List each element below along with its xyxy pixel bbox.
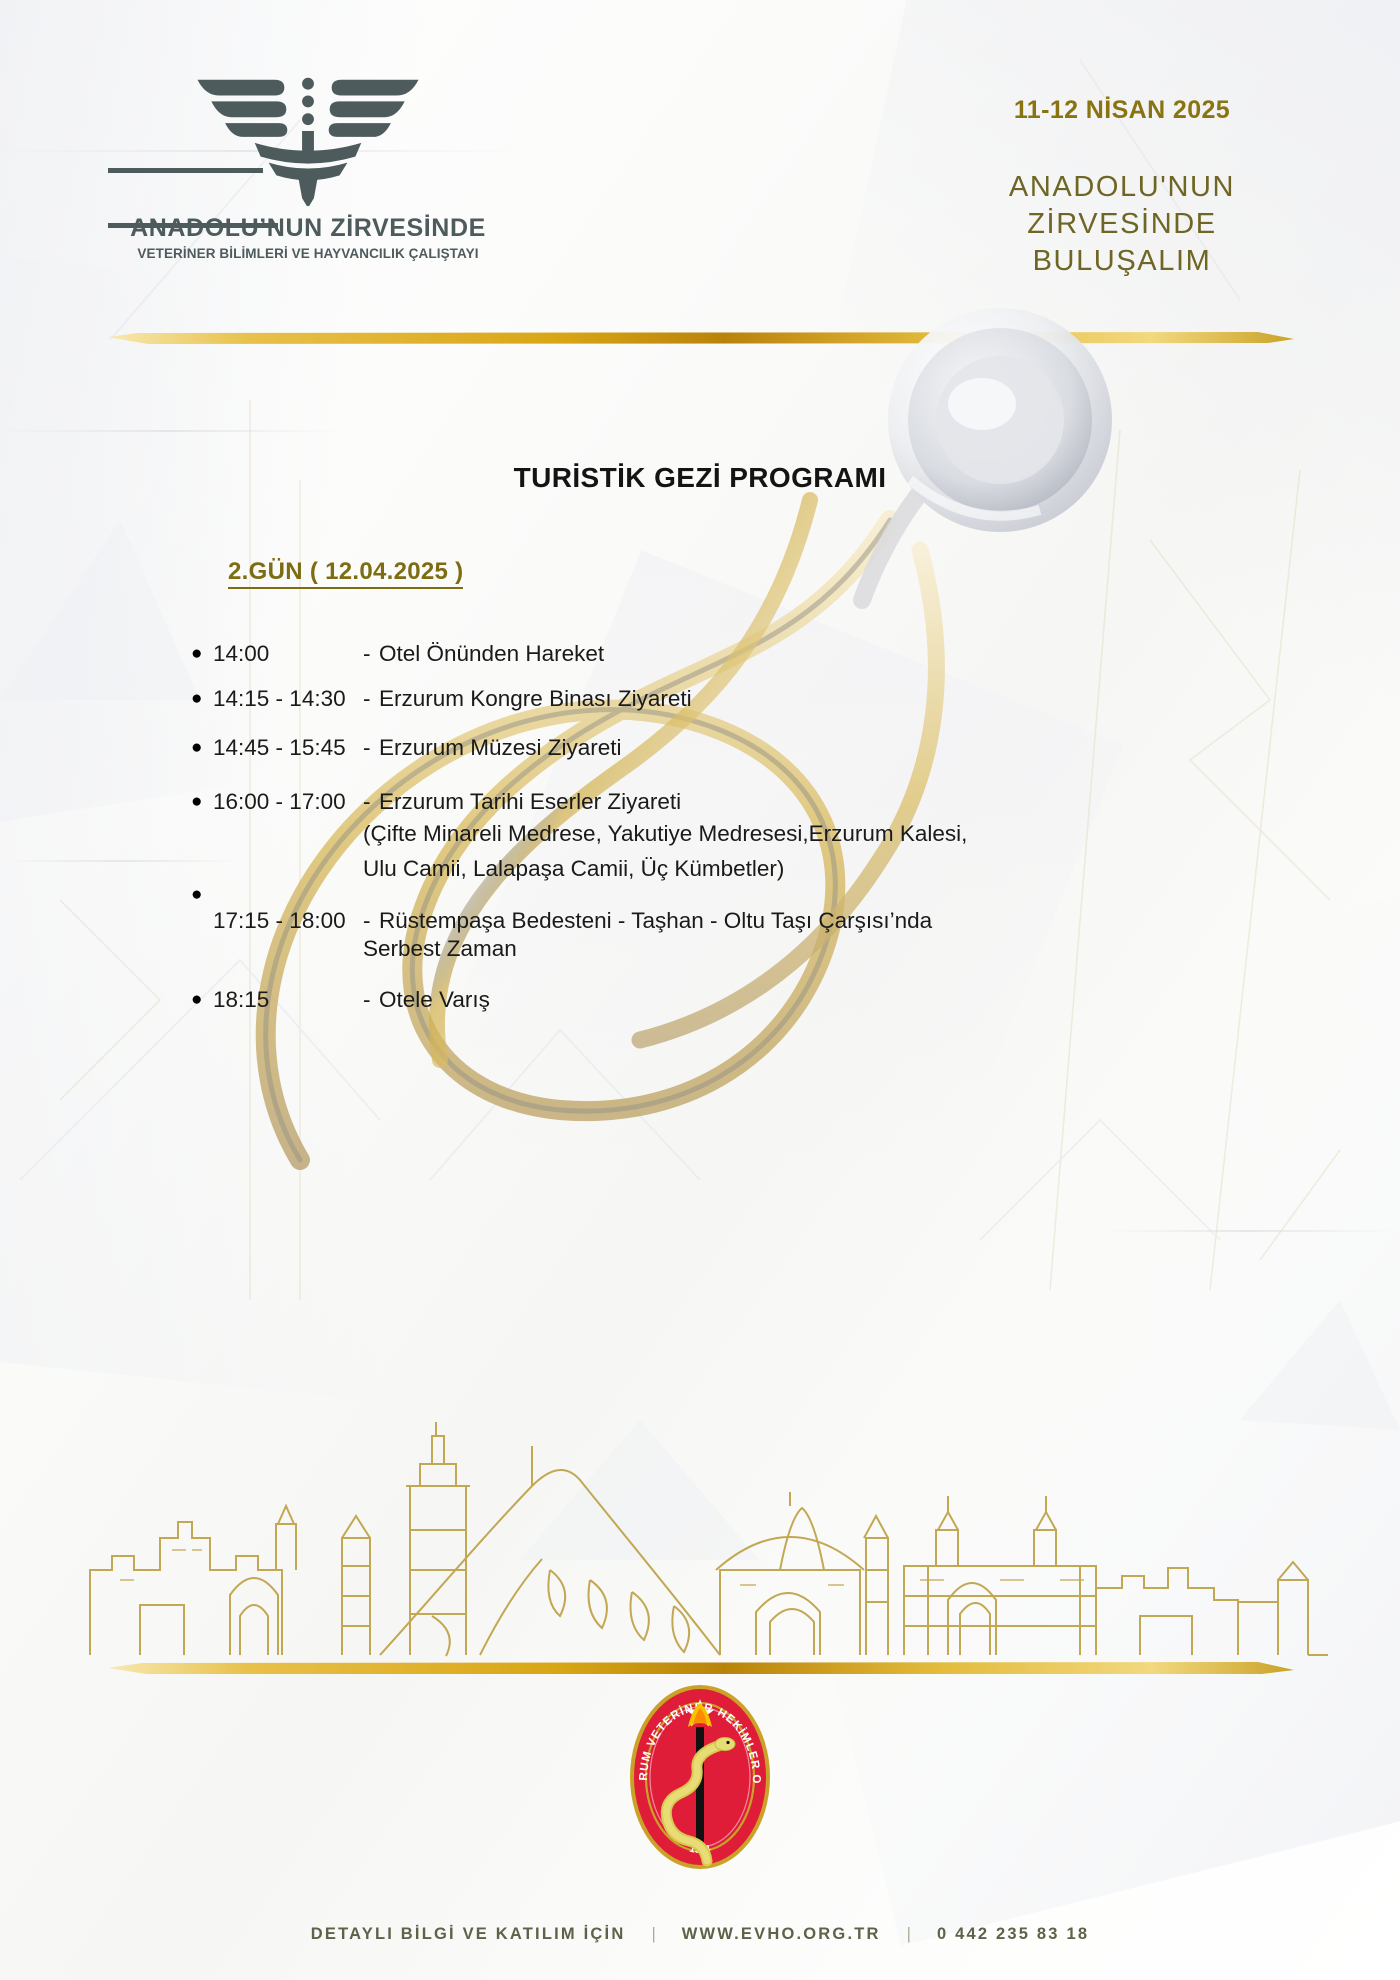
schedule-subtext: Ulu Camii, Lalapaşa Camii, Üç Kümbetler) [185, 852, 1185, 887]
footer-bar: DETAYLI BİLGİ VE KATILIM İÇİN | WWW.EVHO… [0, 1925, 1400, 1944]
poster-page: ANADOLU’NUN ZİRVESİNDE VETERİNER BİLİMLE… [0, 0, 1400, 1980]
page-title: TURİSTİK GEZİ PROGRAMI [0, 462, 1400, 494]
bullet-icon-placeholder: ● [185, 907, 213, 935]
bullet-icon: ● [185, 881, 213, 909]
schedule-text: Rüstempaşa Bedesteni - Taşhan - Oltu Taş… [379, 907, 1185, 936]
schedule-text: Otel Önünden Hareket [379, 640, 1185, 669]
bullet-icon: ● [185, 640, 213, 668]
schedule-text: Erzurum Müzesi Ziyareti [379, 734, 1185, 763]
schedule-time: 18:15 [213, 986, 363, 1015]
footer-website[interactable]: WWW.EVHO.ORG.TR [682, 1925, 881, 1944]
schedule-item: ● 17:15 - 18:00 - Rüstempaşa Bedesteni -… [185, 907, 1185, 936]
day-heading: 2.GÜN ( 12.04.2025 ) [228, 558, 463, 589]
bullet-icon: ● [185, 986, 213, 1014]
schedule-item: ● 14:45 - 15:45 - Erzurum Müzesi Ziyaret… [185, 734, 1185, 763]
schedule-text: Erzurum Tarihi Eserler Ziyareti [379, 788, 1185, 817]
bullet-icon: ● [185, 734, 213, 762]
schedule-dash: - [363, 788, 379, 817]
schedule-item: ● 18:15 - Otele Varış [185, 986, 1185, 1015]
schedule-item: ● 14:15 - 14:30 - Erzurum Kongre Binası … [185, 685, 1185, 714]
bullet-icon: ● [185, 788, 213, 816]
schedule-time: 14:15 - 14:30 [213, 685, 363, 714]
schedule-dash: - [363, 640, 379, 669]
erzurum-skyline-illustration [80, 1420, 1330, 1660]
schedule-dash: - [363, 907, 379, 936]
footer-label: DETAYLI BİLGİ VE KATILIM İÇİN [311, 1925, 626, 1944]
schedule-dash: - [363, 986, 379, 1015]
schedule-time: 16:00 - 17:00 [213, 788, 363, 817]
schedule-time: 14:00 [213, 640, 363, 669]
schedule-text: Erzurum Kongre Binası Ziyareti [379, 685, 1185, 714]
erzurum-veteriner-hekimler-odasi-emblem-icon: ERZURUM VETERİNER HEKİMLER ODASI 1954 [625, 1679, 775, 1875]
schedule-item: ● 14:00 - Otel Önünden Hareket [185, 640, 1185, 669]
schedule-dash: - [363, 685, 379, 714]
schedule-continuation: Serbest Zaman [185, 936, 1185, 962]
bullet-icon: ● [185, 685, 213, 713]
schedule-subtext: (Çifte Minareli Medrese, Yakutiye Medres… [185, 817, 1185, 852]
schedule-text: Otele Varış [379, 986, 1185, 1015]
footer-divider: | [907, 1925, 911, 1944]
schedule-time: 14:45 - 15:45 [213, 734, 363, 763]
schedule-dash: - [363, 734, 379, 763]
footer-divider: | [651, 1925, 655, 1944]
schedule-item: ● 16:00 - 17:00 - Erzurum Tarihi Eserler… [185, 788, 1185, 817]
gold-divider-bottom [108, 1660, 1294, 1676]
schedule-time: 17:15 - 18:00 [213, 907, 363, 936]
footer-phone[interactable]: 0 442 235 83 18 [937, 1925, 1089, 1944]
schedule-list: ● 14:00 - Otel Önünden Hareket ● 14:15 -… [185, 640, 1185, 1015]
